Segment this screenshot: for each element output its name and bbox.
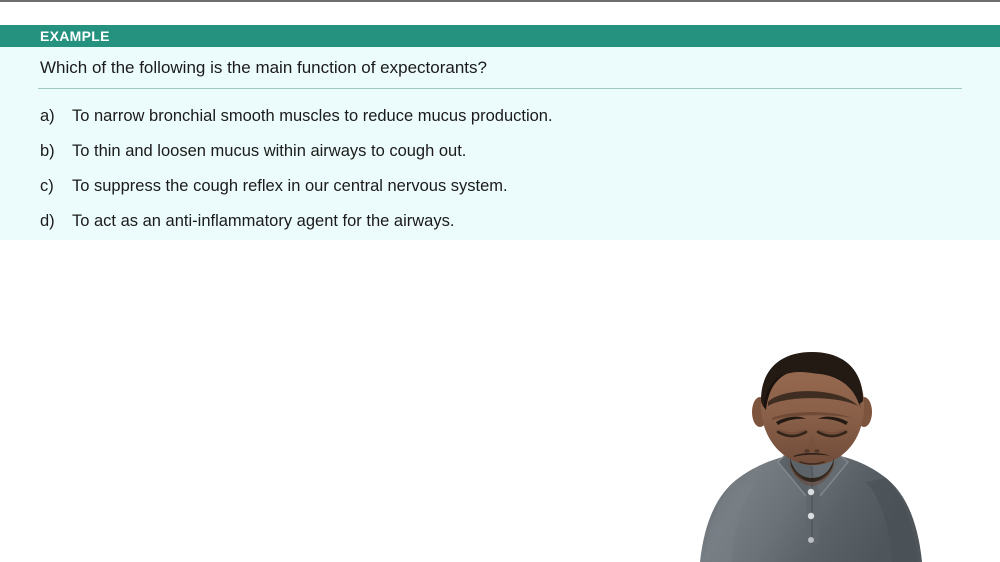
answer-option-d-marker: d) bbox=[40, 212, 72, 231]
answer-option-a[interactable]: a) To narrow bronchial smooth muscles to… bbox=[40, 99, 1000, 134]
answer-options-list: a) To narrow bronchial smooth muscles to… bbox=[0, 99, 1000, 239]
answer-option-d-text: To act as an anti-inflammatory agent for… bbox=[72, 212, 1000, 231]
answer-option-c-text: To suppress the cough reflex in our cent… bbox=[72, 177, 1000, 196]
answer-option-a-marker: a) bbox=[40, 107, 72, 126]
question-text: Which of the following is the main funct… bbox=[40, 57, 1000, 78]
answer-option-b[interactable]: b) To thin and loosen mucus within airwa… bbox=[40, 134, 1000, 169]
example-question-card: EXAMPLE Which of the following is the ma… bbox=[0, 25, 1000, 240]
example-header-bar: EXAMPLE bbox=[0, 25, 1000, 47]
answer-option-c-marker: c) bbox=[40, 177, 72, 196]
answer-option-d[interactable]: d) To act as an anti-inflammatory agent … bbox=[40, 204, 1000, 239]
instructor-person-image bbox=[660, 340, 1000, 562]
question-divider bbox=[38, 88, 962, 89]
answer-option-c[interactable]: c) To suppress the cough reflex in our c… bbox=[40, 169, 1000, 204]
example-header-label: EXAMPLE bbox=[40, 29, 110, 43]
instructor-video-overlay bbox=[660, 340, 1000, 562]
top-divider-rule bbox=[0, 0, 1000, 2]
answer-option-b-marker: b) bbox=[40, 142, 72, 161]
answer-option-a-text: To narrow bronchial smooth muscles to re… bbox=[72, 107, 1000, 126]
answer-option-b-text: To thin and loosen mucus within airways … bbox=[72, 142, 1000, 161]
